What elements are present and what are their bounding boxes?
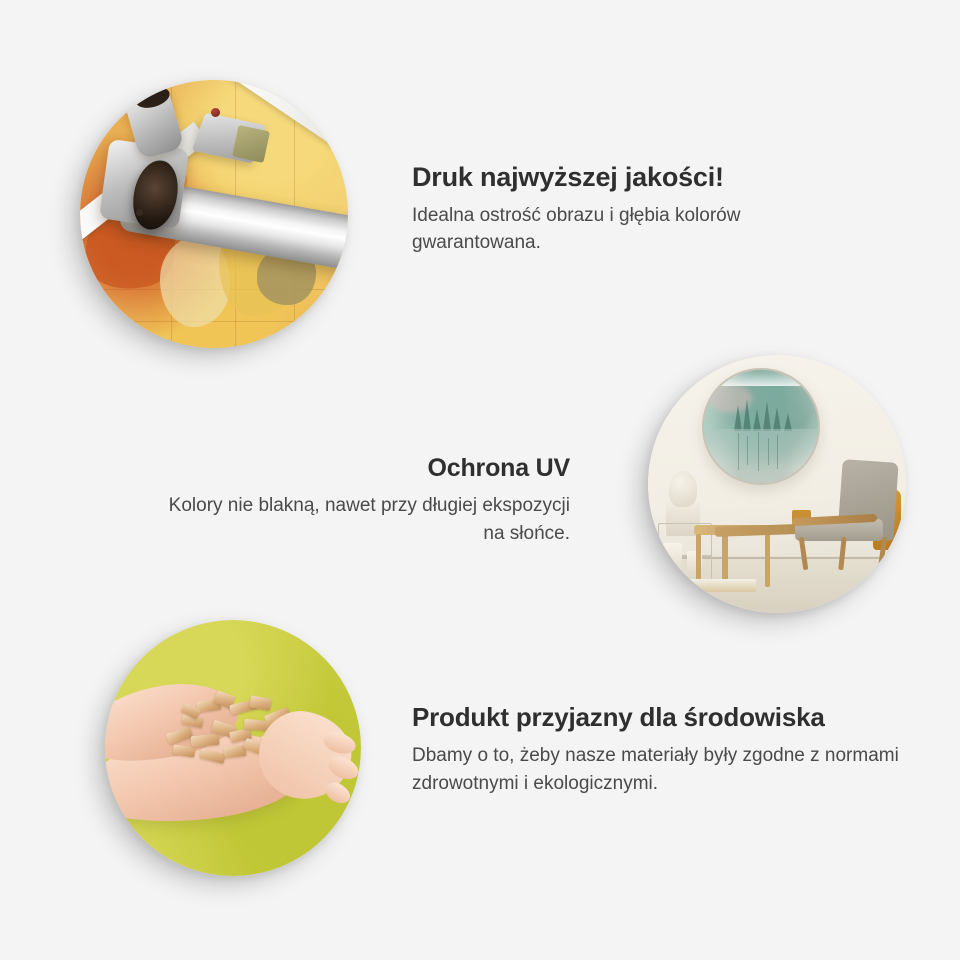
interior-round-artwork-photo (648, 355, 906, 613)
feature-text-eco-friendly: Produkt przyjazny dla środowiska Dbamy o… (412, 700, 912, 798)
feature-heading: Druk najwyższej jakości! (412, 160, 832, 194)
printer-roller-world-map-photo (80, 80, 348, 348)
feature-body: Dbamy o to, żeby nasze materiały były zg… (412, 742, 912, 798)
feature-body: Idealna ostrość obrazu i głębia kolorów … (412, 202, 832, 256)
armchair (792, 461, 900, 569)
photo-2-canvas (648, 355, 906, 613)
sculpture-bust (669, 471, 697, 507)
feature-heading: Ochrona UV (150, 452, 570, 485)
feature-body: Kolory nie blakną, nawet przy długiej ek… (150, 492, 570, 548)
feature-heading: Produkt przyjazny dla środowiska (412, 700, 912, 734)
photo-1-canvas (80, 80, 348, 348)
feature-highlights-page: { "page": { "background_color": "#f4f4f4… (0, 0, 960, 960)
feature-text-uv-protection: Ochrona UV Kolory nie blakną, nawet przy… (150, 452, 570, 548)
feature-text-print-quality: Druk najwyższej jakości! Idealna ostrość… (412, 160, 832, 256)
photo-3-canvas (105, 620, 361, 876)
books-stack (689, 579, 756, 592)
map-landmass (160, 235, 230, 326)
hands-wood-chips-photo (105, 620, 361, 876)
